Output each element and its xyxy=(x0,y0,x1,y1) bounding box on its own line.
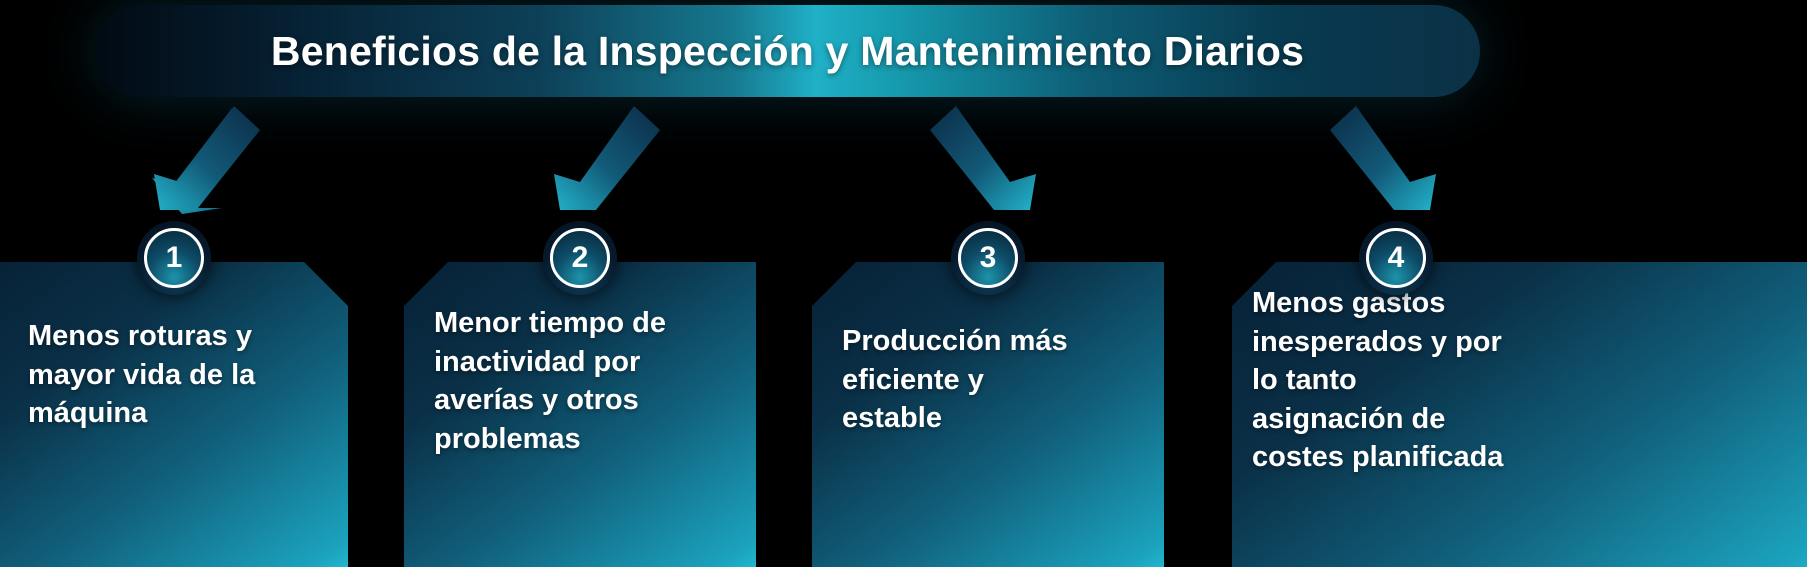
benefit-card-1-text: Menos roturas y mayor vida de la máquina xyxy=(28,317,324,433)
benefit-card-1-number: 1 xyxy=(166,243,183,273)
infographic-canvas: Beneficios de la Inspección y Mantenimie… xyxy=(0,0,1807,567)
benefit-card-2-badge-ring: 2 xyxy=(550,228,610,288)
arrow-to-card-2-icon xyxy=(540,104,660,214)
benefit-card-3-number: 3 xyxy=(980,243,997,273)
benefit-card-2-text: Menor tiempo de inactividad por averías … xyxy=(434,304,732,458)
page-title: Beneficios de la Inspección y Mantenimie… xyxy=(271,28,1304,75)
benefit-card-4-number: 4 xyxy=(1388,243,1405,273)
benefit-card-2[interactable]: Menor tiempo de inactividad por averías … xyxy=(404,262,756,567)
benefit-card-3-text: Producción más eficiente y estable xyxy=(842,322,1140,438)
benefit-card-1-number-badge: 1 xyxy=(137,221,211,295)
arrow-to-card-4-icon xyxy=(1330,104,1450,214)
benefit-card-3[interactable]: Producción más eficiente y estable xyxy=(812,262,1164,567)
benefit-card-3-number-badge: 3 xyxy=(951,221,1025,295)
title-banner: Beneficios de la Inspección y Mantenimie… xyxy=(95,5,1480,97)
benefit-card-4-badge-ring: 4 xyxy=(1366,228,1426,288)
benefit-card-1-badge-ring: 1 xyxy=(144,228,204,288)
benefit-card-2-number: 2 xyxy=(572,243,589,273)
benefit-card-4-text: Menos gastos inesperados y por lo tanto … xyxy=(1252,284,1807,477)
arrow-to-card-1-icon xyxy=(140,104,260,214)
benefit-card-1[interactable]: Menos roturas y mayor vida de la máquina xyxy=(0,262,348,567)
benefit-card-4-number-badge: 4 xyxy=(1359,221,1433,295)
arrow-to-card-3-icon xyxy=(930,104,1050,214)
benefit-card-3-badge-ring: 3 xyxy=(958,228,1018,288)
benefit-card-4[interactable]: Menos gastos inesperados y por lo tanto … xyxy=(1232,262,1807,567)
benefit-card-2-number-badge: 2 xyxy=(543,221,617,295)
